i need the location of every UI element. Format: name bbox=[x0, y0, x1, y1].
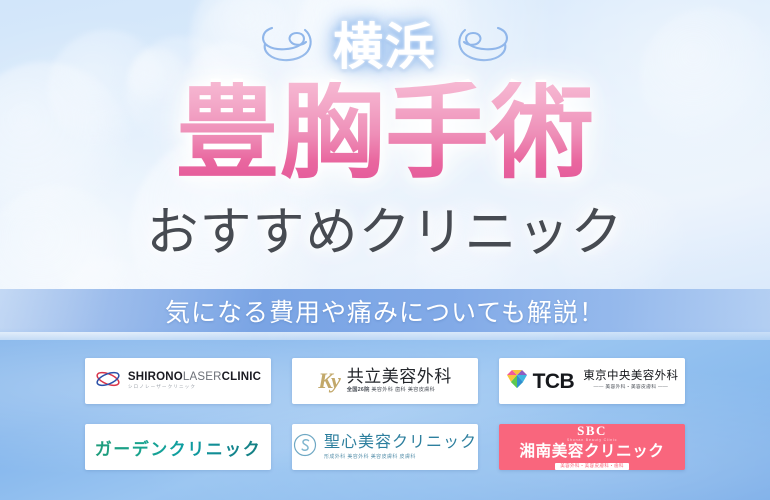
main-title: 豊胸手術 bbox=[175, 82, 595, 186]
kyoritsu-name: 共立美容外科 bbox=[347, 368, 452, 385]
s-circle-icon bbox=[293, 433, 317, 462]
garden-name: ガーデンクリニック bbox=[95, 435, 262, 460]
sbc-name: 湘南美容クリニック bbox=[520, 444, 665, 460]
clinic-promo-banner: 横浜 豊胸手術 豊胸手術 おすすめクリニック おすすめクリニック 気になる費用や… bbox=[0, 0, 770, 500]
swirl-ornament-left-icon bbox=[259, 21, 321, 74]
tcb-name: 東京中央美容外科 bbox=[583, 371, 678, 383]
ribbon-text: 気になる費用や痛みについても解説！ bbox=[165, 293, 605, 329]
shirono-name-light: LASER bbox=[183, 371, 222, 383]
shirono-name-bold: SHIRONO bbox=[128, 371, 183, 383]
clinic-logo-seishin-biyou-clinic[interactable]: 聖心美容クリニック 形成外科 美容外科 美容皮膚科 皮膚科 bbox=[292, 424, 478, 470]
ky-monogram-icon: Ky bbox=[318, 370, 338, 392]
tcb-subtext: —— 美容外科・美容皮膚科 —— bbox=[594, 386, 669, 391]
ribbon-band: 気になる費用や痛みについても解説！ bbox=[0, 289, 770, 332]
kyoritsu-subtext-bold: 全国26院 bbox=[347, 387, 370, 393]
clinic-logo-grid: SHIRONOLASERCLINIC シロノレーザークリニック Ky 共立美容外… bbox=[85, 358, 685, 470]
seishin-subtext: 形成外科 美容外科 美容皮膚科 皮膚科 bbox=[324, 455, 477, 460]
crossed-ellipses-icon bbox=[95, 370, 121, 393]
sbc-tagline: 美容外科・美容皮膚科・歯科 bbox=[555, 463, 629, 470]
seishin-name: 聖心美容クリニック bbox=[324, 435, 477, 451]
clinic-logo-garden-clinic[interactable]: ガーデンクリニック bbox=[85, 424, 271, 470]
tcb-wordmark: TCB bbox=[533, 371, 575, 392]
shirono-name-bold2: CLINIC bbox=[222, 371, 262, 383]
sbc-romaji: Shonan Beauty Clinic bbox=[567, 439, 617, 443]
city-heading-row: 横浜 bbox=[0, 8, 770, 86]
swirl-ornament-right-icon bbox=[449, 21, 511, 74]
main-title-row: 豊胸手術 豊胸手術 bbox=[0, 80, 770, 188]
rainbow-diamond-icon bbox=[506, 369, 528, 394]
clinic-logo-shirono-laser-clinic[interactable]: SHIRONOLASERCLINIC シロノレーザークリニック bbox=[85, 358, 271, 404]
clinic-logo-tcb[interactable]: TCB 東京中央美容外科 —— 美容外科・美容皮膚科 —— bbox=[499, 358, 685, 404]
kyoritsu-subtext: 美容外科 歯科 美容皮膚科 bbox=[371, 387, 435, 393]
city-name: 横浜 bbox=[327, 22, 443, 72]
subtitle: おすすめクリニック bbox=[146, 208, 623, 260]
clinic-logo-kyoritsu-biyou-geka[interactable]: Ky 共立美容外科 全国26院 美容外科 歯科 美容皮膚科 bbox=[292, 358, 478, 404]
clinic-logo-sbc-shonan-biyou-clinic[interactable]: SBC Shonan Beauty Clinic 湘南美容クリニック 美容外科・… bbox=[499, 424, 685, 470]
subtitle-row: おすすめクリニック おすすめクリニック bbox=[0, 198, 770, 270]
sbc-wordmark: SBC bbox=[577, 424, 607, 437]
shirono-subtext: シロノレーザークリニック bbox=[128, 385, 261, 390]
